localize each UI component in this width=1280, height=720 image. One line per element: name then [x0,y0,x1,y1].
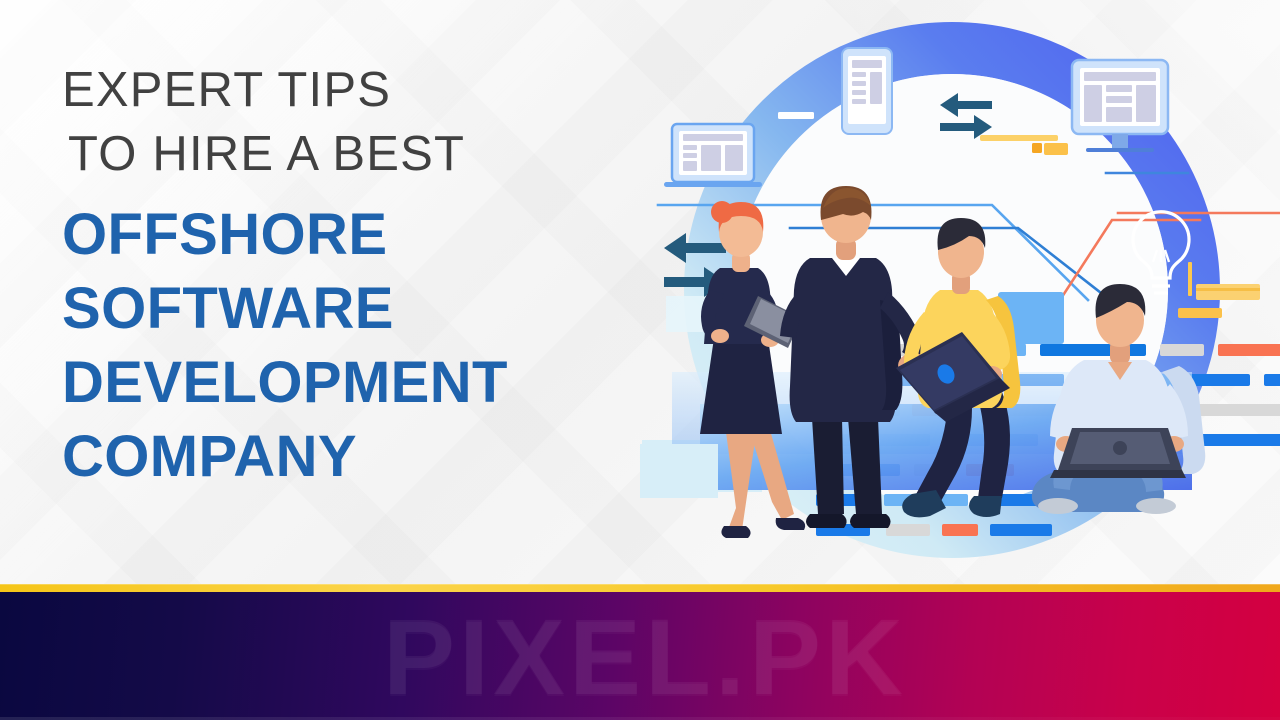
footer-bar: PIXEL.PK [0,584,1280,720]
dash-accent [778,112,814,119]
headline-bold-line-2: SOFTWARE [62,272,662,346]
headline-light-line-1: EXPERT TIPS [62,58,662,122]
team-illustration [640,0,1280,584]
headline-block: EXPERT TIPS TO HIRE A BEST OFFSHORE SOFT… [62,58,662,494]
headline-bold-line-4: COMPANY [62,420,662,494]
watermark-text: PIXEL.PK [0,592,1280,720]
laptop-icon [664,124,762,187]
headline-bold-line-1: OFFSHORE [62,198,662,272]
mobile-phone-icon [842,48,892,134]
headline-bold-block: OFFSHORE SOFTWARE DEVELOPMENT COMPANY [62,198,662,494]
banner-stage: EXPERT TIPS TO HIRE A BEST OFFSHORE SOFT… [0,0,1280,584]
headline-bold-line-3: DEVELOPMENT [62,346,662,420]
headline-light-line-2: TO HIRE A BEST [62,122,662,186]
promo-banner: EXPERT TIPS TO HIRE A BEST OFFSHORE SOFT… [0,0,1280,720]
footer-top-stripe [0,584,1280,592]
